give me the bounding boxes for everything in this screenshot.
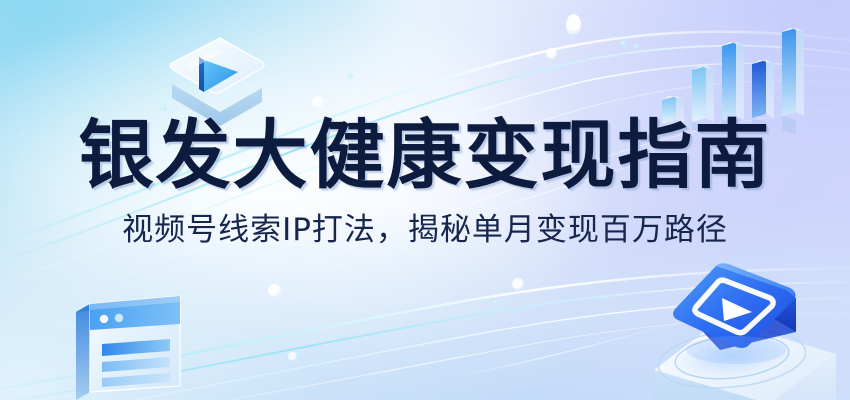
document-card-icon [58, 278, 198, 400]
course-promo-banner: 银发大健康变现指南 视频号线索IP打法，揭秘单月变现百万路径 [0, 0, 850, 400]
window-dot [100, 315, 108, 323]
bar [722, 42, 744, 120]
video-play-podium-icon [600, 258, 850, 400]
banner-subheadline: 视频号线索IP打法，揭秘单月变现百万路径 [0, 193, 850, 246]
bar [752, 60, 774, 118]
banner-headline: 银发大健康变现指南 [0, 118, 850, 193]
bar [782, 28, 804, 116]
window-dot [115, 314, 123, 322]
banner-text-block: 银发大健康变现指南 视频号线索IP打法，揭秘单月变现百万路径 [0, 118, 850, 246]
